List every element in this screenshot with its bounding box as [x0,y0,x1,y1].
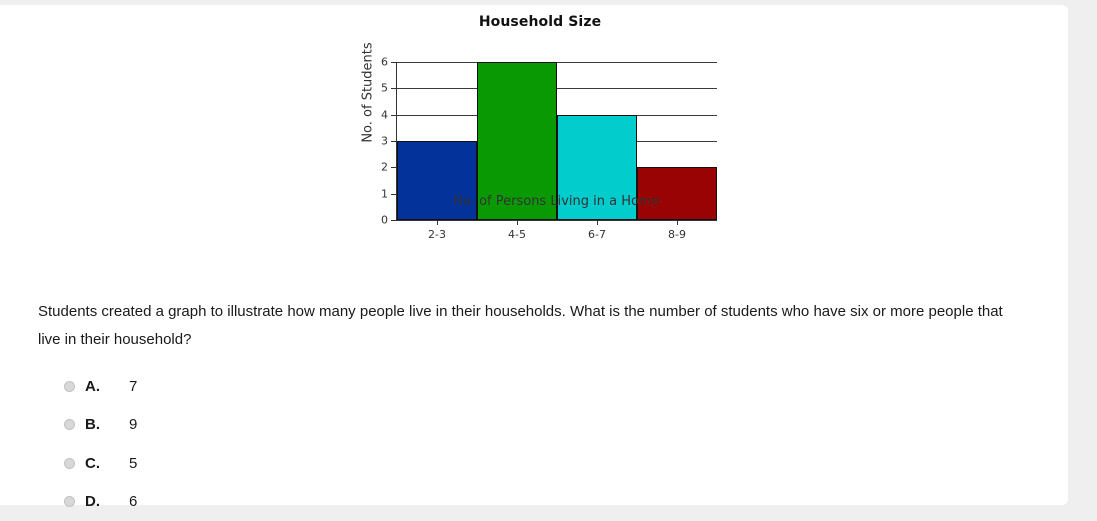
chart-y-axis-label: No. of Students [361,13,376,173]
answer-choice-value: 5 [129,455,137,472]
answer-choice-c[interactable]: C.5 [64,444,464,483]
radio-button-icon[interactable] [64,381,75,392]
chart-x-tick [677,220,678,225]
chart-y-tick-label: 2 [381,161,388,174]
chart-gridline [397,62,717,63]
bar-chart: Household Size No. of Students 01234562-… [340,9,740,271]
chart-gridline [397,88,717,89]
chart-title: Household Size [340,14,740,30]
chart-x-tick [437,220,438,225]
radio-button-icon[interactable] [64,419,75,430]
answer-choices: A.7B.9C.5D.6 [64,367,464,521]
chart-x-tick-label: 4-5 [508,228,526,241]
chart-y-tick-label: 3 [381,135,388,148]
answer-choice-letter: D. [85,493,107,510]
chart-x-tick [517,220,518,225]
radio-button-icon[interactable] [64,496,75,507]
chart-y-tick [391,167,396,168]
chart-y-tick-label: 0 [381,214,388,227]
answer-choice-b[interactable]: B.9 [64,406,464,445]
answer-choice-a[interactable]: A.7 [64,367,464,406]
answer-choice-letter: C. [85,455,107,472]
chart-x-axis-line [396,220,717,221]
chart-y-tick-label: 1 [381,187,388,200]
chart-y-tick [391,62,396,63]
chart-y-tick-label: 5 [381,82,388,95]
chart-y-tick-label: 6 [381,56,388,69]
chart-y-tick [391,88,396,89]
answer-choice-value: 6 [129,493,137,510]
chart-y-tick [391,115,396,116]
page-root: Household Size No. of Students 01234562-… [0,0,1097,511]
answer-choice-letter: A. [85,378,107,395]
chart-y-tick [391,141,396,142]
answer-choice-value: 9 [129,416,137,433]
radio-button-icon[interactable] [64,458,75,469]
question-text: Students created a graph to illustrate h… [38,298,1028,354]
answer-choice-letter: B. [85,416,107,433]
chart-x-tick-label: 2-3 [428,228,446,241]
chart-x-axis-label: No. of Persons Living in a Home [396,194,717,209]
chart-y-tick-label: 4 [381,108,388,121]
question-card: Household Size No. of Students 01234562-… [0,5,1068,505]
chart-x-tick-label: 8-9 [668,228,686,241]
chart-x-tick-label: 6-7 [588,228,606,241]
chart-x-tick [597,220,598,225]
answer-choice-value: 7 [129,378,137,395]
answer-choice-d[interactable]: D.6 [64,483,464,521]
chart-y-tick [391,220,396,221]
